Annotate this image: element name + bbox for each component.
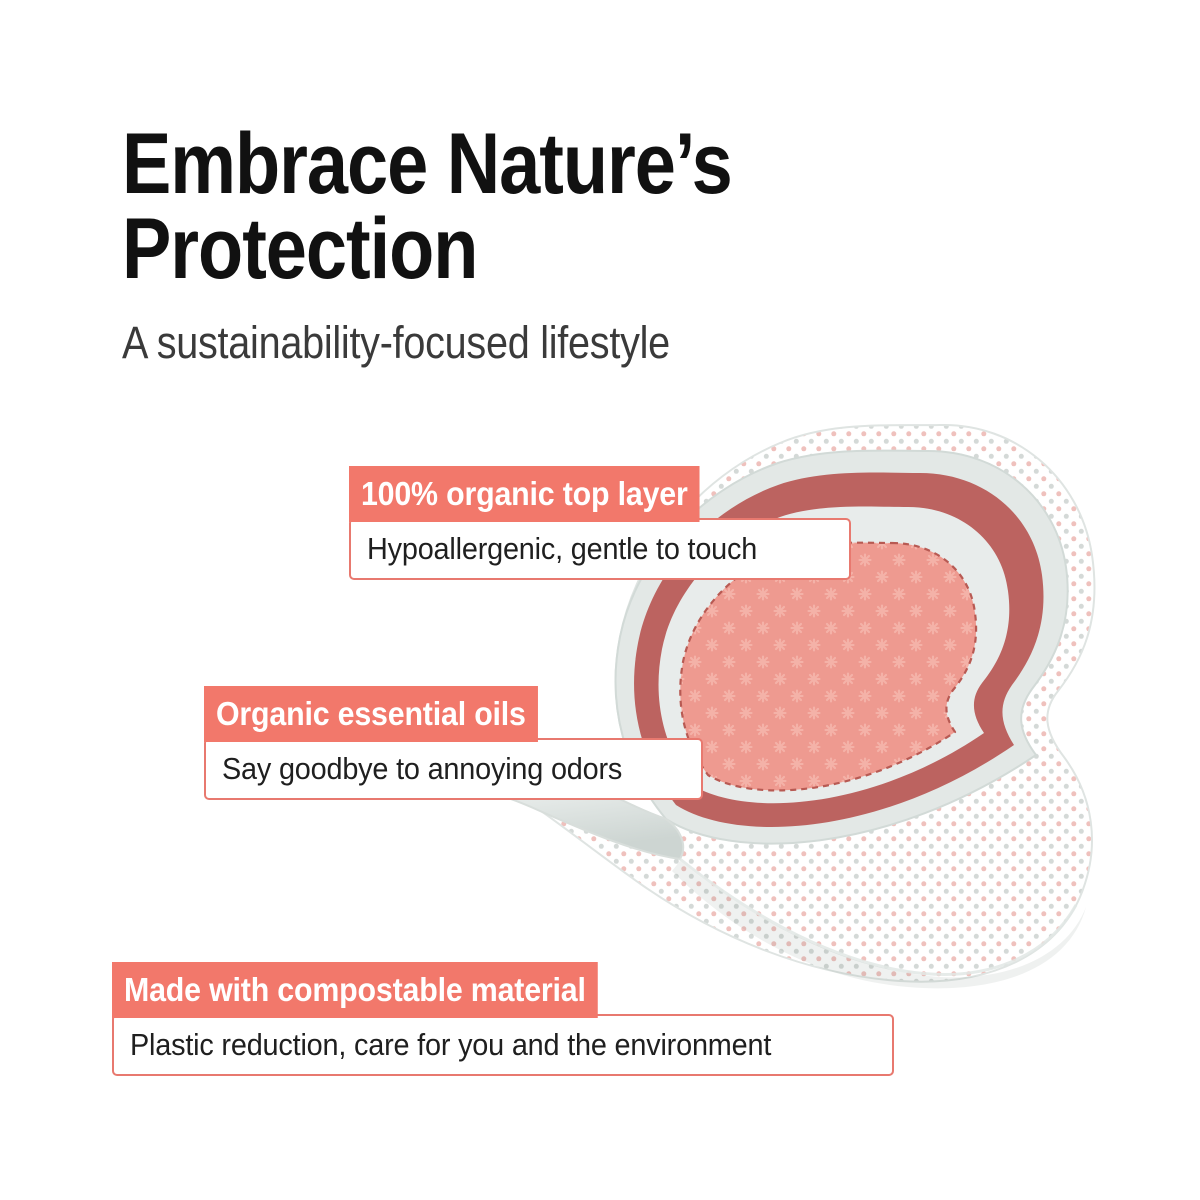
callout-3-title: Made with compostable material — [112, 962, 598, 1018]
callout-1-description: Hypoallergenic, gentle to touch — [367, 533, 757, 564]
callout-compostable-material: Made with compostable material Plastic r… — [112, 962, 894, 1076]
callout-organic-essential-oils: Organic essential oils Say goodbye to an… — [204, 686, 703, 800]
callout-2-description: Say goodbye to annoying odors — [222, 753, 622, 784]
callout-organic-top-layer: 100% organic top layer Hypoallergenic, g… — [349, 466, 851, 580]
page-subtitle: A sustainability-focused lifestyle — [122, 318, 844, 368]
callout-1-body: Hypoallergenic, gentle to touch — [349, 518, 851, 580]
infographic-canvas: Embrace Nature’s Protection A sustainabi… — [0, 0, 1200, 1200]
page-title: Embrace Nature’s Protection — [122, 122, 776, 292]
callout-1-title: 100% organic top layer — [349, 466, 700, 522]
callout-3-body: Plastic reduction, care for you and the … — [112, 1014, 894, 1076]
callout-2-body: Say goodbye to annoying odors — [204, 738, 703, 800]
callout-2-title: Organic essential oils — [204, 686, 538, 742]
callout-3-description: Plastic reduction, care for you and the … — [130, 1029, 771, 1060]
